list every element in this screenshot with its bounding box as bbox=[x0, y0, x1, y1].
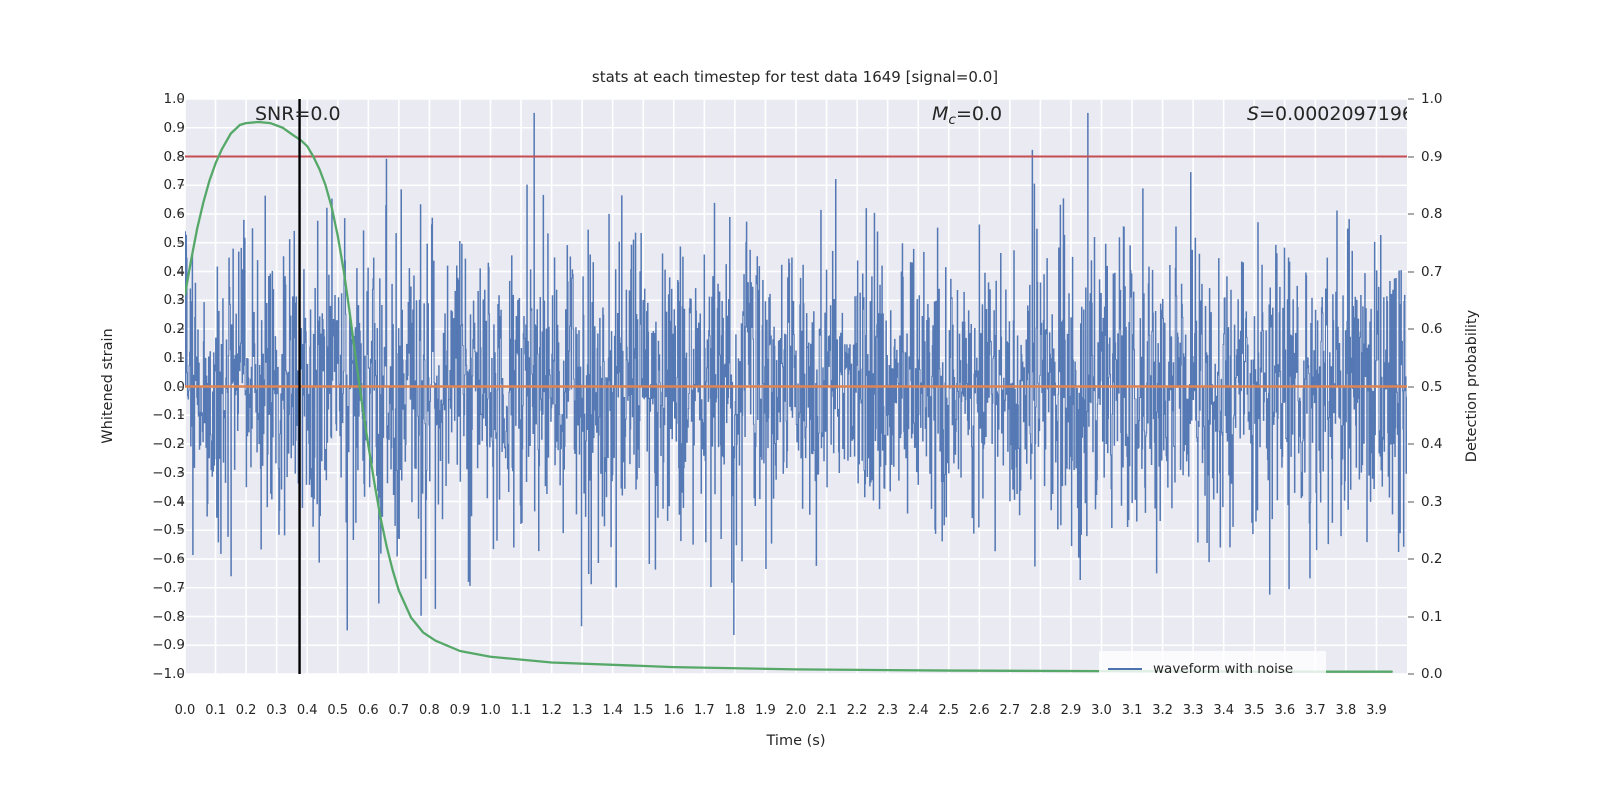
y-axis-right-tick-mark bbox=[1408, 214, 1414, 215]
x-axis-tick-label: 1.3 bbox=[572, 703, 593, 718]
y-axis-right-tick-mark bbox=[1408, 501, 1414, 502]
y-axis-right-tick-mark bbox=[1408, 444, 1414, 445]
y-axis-right-label: Detection probability bbox=[1464, 310, 1480, 462]
x-axis-tick-label: 1.5 bbox=[633, 703, 654, 718]
y-axis-left-tick-mark bbox=[178, 530, 184, 531]
y-axis-left-tick-mark bbox=[178, 616, 184, 617]
x-axis-tick-label: 2.6 bbox=[969, 703, 990, 718]
legend: waveform with noisewaveform without nois… bbox=[1099, 651, 1326, 674]
annotation-chirp-mass: Mc=0.0 bbox=[932, 103, 1002, 128]
y-axis-left-tick-mark bbox=[178, 99, 184, 100]
y-axis-right-tick-label: 0.5 bbox=[1421, 379, 1442, 395]
y-axis-left-tick-mark bbox=[178, 242, 184, 243]
x-axis-tick-label: 1.2 bbox=[541, 703, 562, 718]
x-axis-tick-label: 0.6 bbox=[358, 703, 379, 718]
x-axis-tick-label: 3.7 bbox=[1305, 703, 1326, 718]
x-axis-tick-label: 0.2 bbox=[236, 703, 257, 718]
x-axis-tick-label: 1.1 bbox=[511, 703, 532, 718]
y-axis-right-tick-mark bbox=[1408, 156, 1414, 157]
x-axis-tick-label: 3.8 bbox=[1336, 703, 1357, 718]
x-axis-tick-label: 3.6 bbox=[1274, 703, 1295, 718]
annotation-statistic-symbol: S bbox=[1247, 103, 1259, 125]
annotation-chirp-mass-symbol: M bbox=[932, 103, 948, 125]
y-axis-left-tick-mark bbox=[178, 444, 184, 445]
y-axis-left-tick-mark bbox=[178, 329, 184, 330]
y-axis-right-tick-label: 1.0 bbox=[1421, 91, 1442, 107]
y-axis-right-tick-label: 0.1 bbox=[1421, 609, 1442, 625]
x-axis-tick-label: 1.7 bbox=[694, 703, 715, 718]
y-axis-left-tick-mark bbox=[178, 214, 184, 215]
x-axis-tick-label: 1.8 bbox=[725, 703, 746, 718]
x-axis-tick-label: 0.9 bbox=[450, 703, 471, 718]
x-axis-tick-label: 3.1 bbox=[1122, 703, 1143, 718]
y-axis-left-tick-mark bbox=[178, 645, 184, 646]
x-axis-tick-label: 2.5 bbox=[938, 703, 959, 718]
annotation-statistic-value: =0.00020971964113414287 bbox=[1259, 103, 1407, 125]
y-axis-right-tick-label: 0.0 bbox=[1421, 666, 1442, 682]
x-axis-tick-label: 2.4 bbox=[908, 703, 929, 718]
page-title: stats at each timestep for test data 164… bbox=[185, 68, 1405, 86]
y-axis-right-tick-label: 0.4 bbox=[1421, 436, 1442, 452]
y-axis-right-tick-label: 0.3 bbox=[1421, 494, 1442, 510]
y-axis-right-tick-mark bbox=[1408, 559, 1414, 560]
y-axis-right-tick-mark bbox=[1408, 329, 1414, 330]
x-axis-tick-label: 2.9 bbox=[1061, 703, 1082, 718]
y-axis-left-tick-mark bbox=[178, 674, 184, 675]
x-axis-tick-label: 2.7 bbox=[1000, 703, 1021, 718]
annotation-chirp-mass-value: =0.0 bbox=[956, 103, 1002, 125]
y-axis-right-tick-label: 0.6 bbox=[1421, 321, 1442, 337]
y-axis-left-tick-mark bbox=[178, 501, 184, 502]
x-axis-tick-label: 1.6 bbox=[663, 703, 684, 718]
x-axis-tick-label: 0.3 bbox=[266, 703, 287, 718]
y-axis-right-tick-label: 0.7 bbox=[1421, 264, 1442, 280]
x-axis-tick-label: 0.5 bbox=[327, 703, 348, 718]
x-axis-tick-label: 2.2 bbox=[847, 703, 868, 718]
x-axis-tick-label: 0.4 bbox=[297, 703, 318, 718]
annotation-chirp-mass-subscript: c bbox=[948, 112, 956, 128]
y-axis-left-tick-mark bbox=[178, 357, 184, 358]
x-axis-tick-label: 0.1 bbox=[205, 703, 226, 718]
y-axis-right-tick-label: 0.8 bbox=[1421, 206, 1442, 222]
y-axis-right-tick-label: 0.2 bbox=[1421, 551, 1442, 567]
y-axis-left-tick-mark bbox=[178, 415, 184, 416]
x-axis-tick-label: 1.9 bbox=[755, 703, 776, 718]
y-axis-left-tick-mark bbox=[178, 185, 184, 186]
x-axis-tick-label: 3.2 bbox=[1152, 703, 1173, 718]
x-axis-tick-label: 2.3 bbox=[877, 703, 898, 718]
x-axis-tick-label: 2.1 bbox=[816, 703, 837, 718]
y-axis-right-tick-mark bbox=[1408, 616, 1414, 617]
legend-label-0: waveform with noise bbox=[1153, 659, 1293, 675]
y-axis-left-tick-mark bbox=[178, 300, 184, 301]
x-axis-tick-label: 3.0 bbox=[1091, 703, 1112, 718]
y-axis-right-tick-label: 0.9 bbox=[1421, 149, 1442, 165]
x-axis-tick-label: 3.4 bbox=[1213, 703, 1234, 718]
x-axis-tick-label: 0.7 bbox=[389, 703, 410, 718]
x-axis-tick-label: 3.9 bbox=[1366, 703, 1387, 718]
y-axis-left-tick-mark bbox=[178, 587, 184, 588]
x-axis-tick-label: 0.0 bbox=[175, 703, 196, 718]
y-axis-right-tick-mark bbox=[1408, 99, 1414, 100]
y-axis-right-tick-mark bbox=[1408, 271, 1414, 272]
y-axis-left-tick-mark bbox=[178, 386, 184, 387]
figure-canvas: stats at each timestep for test data 164… bbox=[0, 0, 1600, 800]
plot-overlay: SNR=0.0 Mc=0.0 S=0.00020971964113414287 … bbox=[185, 99, 1407, 674]
y-axis-right-tick-mark bbox=[1408, 674, 1414, 675]
x-axis-tick-label: 0.8 bbox=[419, 703, 440, 718]
x-axis-tick-label: 1.0 bbox=[480, 703, 501, 718]
legend-item-0[interactable]: waveform with noise bbox=[1108, 658, 1315, 674]
x-axis-tick-label: 2.0 bbox=[786, 703, 807, 718]
annotation-statistic: S=0.00020971964113414287 bbox=[1247, 103, 1407, 125]
y-axis-left-tick-mark bbox=[178, 127, 184, 128]
legend-swatch-0 bbox=[1108, 668, 1142, 670]
y-axis-left-tick-mark bbox=[178, 271, 184, 272]
annotation-snr: SNR=0.0 bbox=[255, 103, 341, 125]
y-axis-right-tick-mark bbox=[1408, 386, 1414, 387]
y-axis-left-tick-mark bbox=[178, 559, 184, 560]
x-axis-tick-label: 3.5 bbox=[1244, 703, 1265, 718]
y-axis-left-label: Whitened strain bbox=[100, 328, 116, 443]
x-axis-label: Time (s) bbox=[767, 733, 826, 749]
y-axis-left-tick-mark bbox=[178, 156, 184, 157]
x-axis-tick-label: 2.8 bbox=[1030, 703, 1051, 718]
x-axis-tick-label: 1.4 bbox=[602, 703, 623, 718]
y-axis-left-tick-mark bbox=[178, 472, 184, 473]
plot-area: SNR=0.0 Mc=0.0 S=0.00020971964113414287 … bbox=[185, 99, 1407, 674]
x-axis-tick-label: 3.3 bbox=[1183, 703, 1204, 718]
